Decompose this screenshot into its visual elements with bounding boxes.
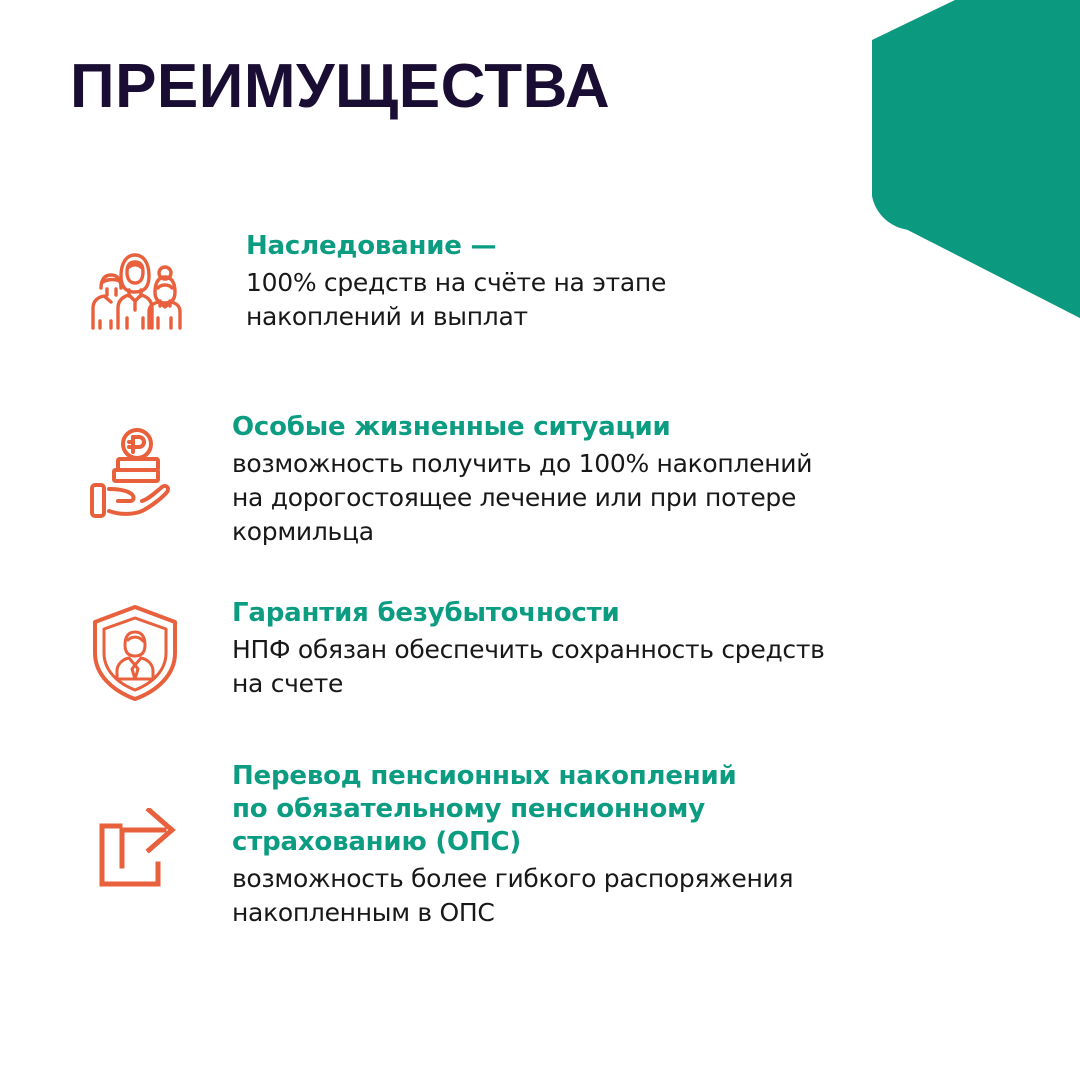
benefit-text-ops-transfer: Перевод пенсионных накоплений по обязате… [190, 758, 1080, 930]
infographic-canvas: ПРЕИМУЩЕСТВА [0, 0, 1080, 1080]
benefit-item-guarantee: Гарантия безубыточности НПФ обязан обесп… [0, 595, 1080, 706]
export-arrow-icon [80, 800, 190, 905]
hand-holding-money-ruble-icon [80, 423, 190, 528]
benefit-body: НПФ обязан обеспечить сохранность средст… [232, 633, 1080, 701]
benefit-title: Наследование — [246, 230, 1080, 263]
shield-person-icon [80, 601, 190, 706]
benefit-item-special-situations: Особые жизненные ситуации возможность по… [0, 409, 1080, 549]
benefit-item-ops-transfer: Перевод пенсионных накоплений по обязате… [0, 758, 1080, 930]
benefit-body: возможность получить до 100% накоплений … [232, 447, 1080, 548]
benefit-text-inheritance: Наследование — 100% средств на счёте на … [190, 230, 1080, 334]
family-group-icon [80, 236, 190, 341]
benefit-title: Особые жизненные ситуации [232, 411, 1080, 444]
benefit-text-special-situations: Особые жизненные ситуации возможность по… [190, 409, 1080, 549]
benefit-body: 100% средств на счёте на этапе накоплени… [246, 266, 1080, 334]
page-title: ПРЕИМУЩЕСТВА [70, 56, 610, 118]
benefit-title: Гарантия безубыточности [232, 597, 1080, 630]
benefit-text-guarantee: Гарантия безубыточности НПФ обязан обесп… [190, 595, 1080, 701]
benefit-item-inheritance: Наследование — 100% средств на счёте на … [0, 230, 1080, 341]
benefit-title: Перевод пенсионных накоплений по обязате… [232, 760, 1080, 860]
benefits-list: Наследование — 100% средств на счёте на … [0, 230, 1080, 976]
benefit-body: возможность более гибкого распоряжения н… [232, 862, 1080, 930]
